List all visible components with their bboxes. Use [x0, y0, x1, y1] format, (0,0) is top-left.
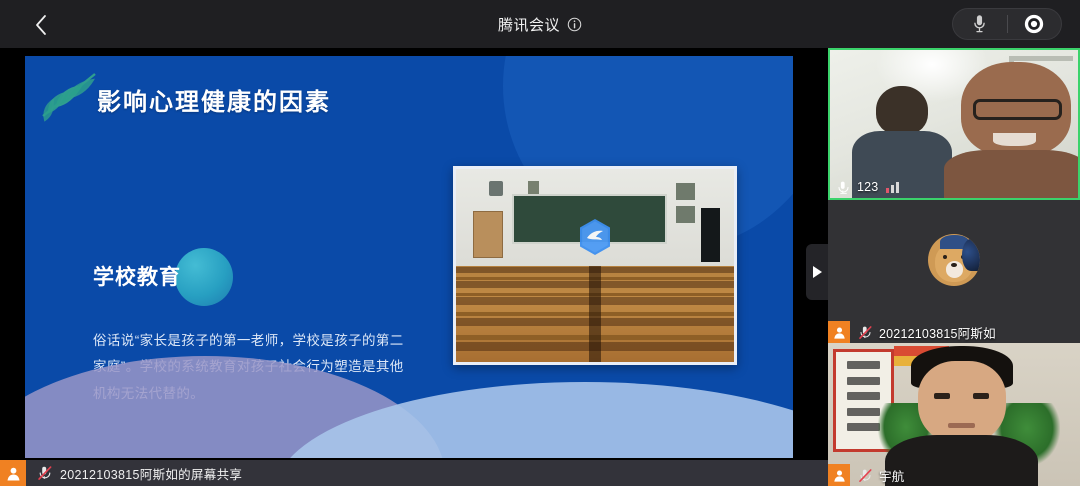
shared-screen-stage[interactable]: 影响心理健康的因素 学校教育 俗话说“家长是孩子的第一老师，学校是孩子的第二家庭…	[0, 48, 828, 486]
microphone-muted-icon	[858, 325, 873, 340]
meeting-app-window: 腾讯会议	[0, 0, 1080, 486]
lecture-hall-scene	[456, 169, 734, 362]
mic-button[interactable]	[953, 9, 1007, 39]
screen-share-label: 20212103815阿斯如的屏幕共享	[60, 464, 242, 483]
section-circle-decoration	[175, 248, 233, 306]
camera-button[interactable]	[1008, 9, 1062, 39]
microphone-muted-icon	[858, 468, 873, 483]
screen-share-status-bar: 20212103815阿斯如的屏幕共享	[0, 460, 828, 486]
participant-name: 20212103815阿斯如	[879, 323, 996, 342]
meeting-title-group: 腾讯会议	[0, 0, 1080, 48]
top-bar: 腾讯会议	[0, 0, 1080, 48]
avatar	[0, 460, 26, 486]
av-controls-pill	[952, 8, 1062, 40]
page-title: 腾讯会议	[498, 14, 560, 35]
signal-bars-icon	[886, 181, 899, 193]
person-avatar-icon	[833, 326, 846, 339]
tile-label: 123	[830, 176, 899, 198]
microphone-icon	[836, 180, 851, 195]
microphone-icon	[972, 13, 987, 35]
microphone-muted-icon	[37, 465, 53, 481]
tile-label: 宇航	[828, 464, 904, 486]
bird-hexagon-logo	[578, 218, 612, 256]
video-tile-camera-off[interactable]: 20212103815阿斯如	[828, 200, 1080, 343]
doge-avatar-icon	[928, 234, 980, 286]
participant-name: 宇航	[879, 466, 904, 485]
video-tile-active-speaker[interactable]: 123	[828, 48, 1080, 200]
panel-toggle-handle[interactable]	[806, 244, 828, 300]
avatar	[828, 321, 850, 343]
presentation-slide: 影响心理健康的因素 学校教育 俗话说“家长是孩子的第一老师，学校是孩子的第二家庭…	[25, 56, 793, 458]
lecture-hall-photo	[453, 166, 737, 365]
slide-section-title: 学校教育	[93, 261, 181, 291]
avatar	[828, 464, 850, 486]
participant-name: 123	[857, 180, 878, 194]
video-tile-participant[interactable]: 宇航	[828, 343, 1080, 486]
slide-title: 影响心理健康的因素	[97, 82, 331, 117]
tile-label: 20212103815阿斯如	[828, 321, 996, 343]
person-avatar-icon	[833, 469, 846, 482]
participant-video-column: 123	[828, 48, 1080, 486]
info-circle-icon[interactable]	[567, 17, 582, 32]
record-camera-icon	[1023, 13, 1045, 35]
person-avatar-icon	[6, 466, 21, 481]
play-triangle-right-icon	[812, 265, 823, 279]
